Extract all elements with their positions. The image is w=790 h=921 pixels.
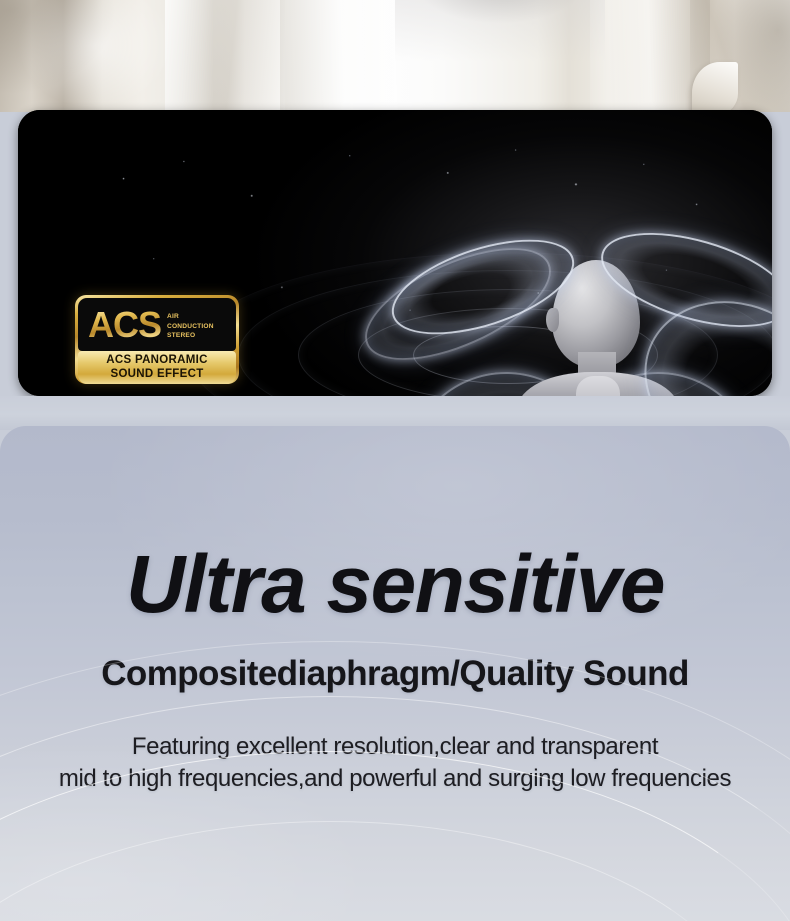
acs-hero-panel: ACS AIR CONDUCTION STEREO ACS PANORAMIC … bbox=[18, 110, 772, 396]
acs-banner-line-1: ACS PANORAMIC bbox=[106, 354, 207, 367]
acs-sub-line-3: STEREO bbox=[167, 331, 214, 340]
product-detail-page: ACS AIR CONDUCTION STEREO ACS PANORAMIC … bbox=[0, 0, 790, 921]
ultra-sensitive-feature-section: Ultra sensitive Compositediaphragm/Quali… bbox=[0, 426, 790, 921]
feature-body-line-2: mid to high frequencies,and powerful and… bbox=[0, 763, 790, 795]
acs-sub-line-2: CONDUCTION bbox=[167, 322, 214, 331]
feature-headline: Ultra sensitive bbox=[0, 544, 790, 626]
acs-badge-top: ACS AIR CONDUCTION STEREO bbox=[78, 298, 236, 351]
model-photo-band bbox=[0, 0, 790, 112]
section-divider-strip bbox=[0, 396, 790, 430]
acs-banner-line-2: SOUND EFFECT bbox=[110, 368, 203, 381]
lapel-curl bbox=[692, 62, 738, 112]
feature-subheadline: Compositediaphragm/Quality Sound bbox=[0, 654, 790, 694]
acs-certification-badge: ACS AIR CONDUCTION STEREO ACS PANORAMIC … bbox=[75, 295, 239, 384]
mannequin-chest bbox=[576, 376, 620, 396]
feature-body-line-1: Featuring excellent resolution,clear and… bbox=[0, 731, 790, 763]
blazer-fold-left bbox=[0, 0, 190, 112]
feature-body-text: Featuring excellent resolution,clear and… bbox=[0, 731, 790, 794]
acs-badge-banner: ACS PANORAMIC SOUND EFFECT bbox=[78, 351, 236, 384]
acs-wordmark: ACS bbox=[88, 307, 161, 343]
mannequin-ear bbox=[546, 308, 559, 332]
acs-expansion-text: AIR CONDUCTION STEREO bbox=[167, 312, 214, 340]
shirt-neckline bbox=[395, 0, 605, 112]
blazer-fold-left-inner bbox=[165, 0, 285, 112]
acs-sub-line-1: AIR bbox=[167, 312, 214, 321]
shirt-fold-left bbox=[280, 0, 420, 112]
